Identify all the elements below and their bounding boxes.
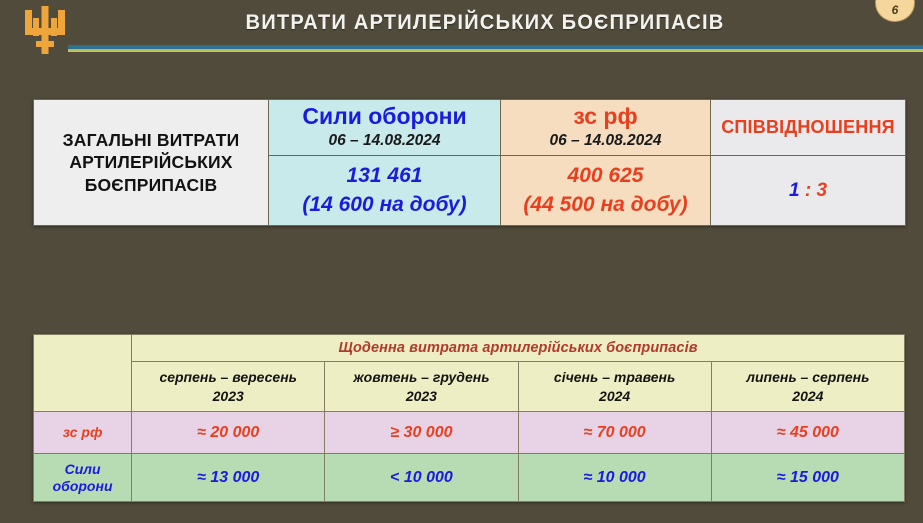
- summary-header-ratio: СПІВВІДНОШЕННЯ: [711, 100, 906, 156]
- summary-value-rus-perday: (44 500 на добу): [501, 191, 710, 219]
- daily-cell-ukr-4: ≈ 15 000: [711, 454, 904, 502]
- summary-value-ukr: 131 461 (14 600 на добу): [269, 156, 501, 226]
- daily-value-rus-1: ≈ 20 000: [197, 424, 259, 441]
- daily-table-corner: [34, 335, 132, 412]
- daily-period-header-4: липень – серпень 2024: [711, 362, 904, 412]
- daily-cell-ukr-3: ≈ 10 000: [518, 454, 711, 502]
- daily-row-label-rus: зс рф: [34, 412, 132, 454]
- daily-cell-ukr-2: < 10 000: [325, 454, 518, 502]
- ratio-right-value: 3: [816, 180, 827, 201]
- summary-value-rus-total: 400 625: [501, 162, 710, 190]
- daily-period-header-2: жовтень – грудень 2023: [325, 362, 518, 412]
- summary-value-ratio: 1 : 3: [711, 156, 906, 226]
- daily-cell-rus-2: ≥ 30 000: [325, 412, 518, 454]
- slide-number-badge: 6: [875, 0, 915, 22]
- summary-header-rus-title: зс рф: [501, 104, 710, 129]
- daily-period-year-3: 2024: [519, 387, 711, 406]
- ukrainian-trident-icon: [22, 4, 68, 56]
- daily-value-ukr-4: ≈ 15 000: [777, 469, 839, 486]
- page-title: ВИТРАТИ АРТИЛЕРІЙСЬКИХ БОЄПРИПАСІВ: [135, 11, 836, 35]
- daily-period-range-1: серпень – вересень: [132, 368, 324, 387]
- table-row: Щоденна витрата артилерійських боєприпас…: [34, 335, 905, 362]
- daily-value-rus-4: ≈ 45 000: [777, 424, 839, 441]
- daily-cell-rus-1: ≈ 20 000: [132, 412, 325, 454]
- summary-header-ukr-dates: 06 – 14.08.2024: [269, 131, 500, 151]
- daily-row-label-ukr-line1: Сили: [34, 461, 131, 478]
- daily-period-range-3: січень – травень: [519, 368, 711, 387]
- ratio-left-value: 1: [789, 180, 800, 201]
- daily-period-range-2: жовтень – грудень: [325, 368, 517, 387]
- summary-header-ukr: Сили оборони 06 – 14.08.2024: [269, 100, 501, 156]
- daily-period-year-2: 2023: [325, 387, 517, 406]
- summary-row-label: ЗАГАЛЬНІ ВИТРАТИ АРТИЛЕРІЙСЬКИХ БОЄПРИПА…: [34, 100, 269, 226]
- daily-period-year-4: 2024: [712, 387, 904, 406]
- summary-value-ukr-perday: (14 600 на добу): [269, 191, 500, 219]
- table-row: зс рф ≈ 20 000 ≥ 30 000 ≈ 70 000 ≈ 45 00…: [34, 412, 905, 454]
- daily-value-rus-3: ≈ 70 000: [584, 424, 646, 441]
- daily-period-header-1: серпень – вересень 2023: [132, 362, 325, 412]
- summary-value-rus: 400 625 (44 500 на добу): [501, 156, 711, 226]
- ratio-separator: :: [800, 180, 817, 201]
- summary-header-rus-dates: 06 – 14.08.2024: [501, 131, 710, 151]
- daily-value-ukr-2: < 10 000: [390, 469, 453, 486]
- daily-period-range-4: липень – серпень: [712, 368, 904, 387]
- table-row: ЗАГАЛЬНІ ВИТРАТИ АРТИЛЕРІЙСЬКИХ БОЄПРИПА…: [34, 100, 906, 156]
- daily-period-header-3: січень – травень 2024: [518, 362, 711, 412]
- daily-row-label-ukr-line2: оборони: [34, 478, 131, 495]
- summary-header-ratio-title: СПІВВІДНОШЕННЯ: [711, 117, 905, 138]
- daily-table-banner: Щоденна витрата артилерійських боєприпас…: [132, 335, 905, 362]
- flag-accent-rule: [68, 45, 923, 52]
- daily-period-year-1: 2023: [132, 387, 324, 406]
- summary-header-rus: зс рф 06 – 14.08.2024: [501, 100, 711, 156]
- daily-row-label-ukr: Сили оборони: [34, 454, 132, 502]
- daily-consumption-table: Щоденна витрата артилерійських боєприпас…: [33, 334, 905, 502]
- daily-row-label-rus-text: зс рф: [34, 424, 131, 441]
- daily-value-ukr-1: ≈ 13 000: [197, 469, 259, 486]
- daily-cell-rus-3: ≈ 70 000: [518, 412, 711, 454]
- daily-value-ukr-3: ≈ 10 000: [584, 469, 646, 486]
- slide-header: ВИТРАТИ АРТИЛЕРІЙСЬКИХ БОЄПРИПАСІВ 6: [0, 0, 923, 56]
- table-row: Сили оборони ≈ 13 000 < 10 000 ≈ 10 000 …: [34, 454, 905, 502]
- daily-value-rus-2: ≥ 30 000: [390, 424, 452, 441]
- summary-table: ЗАГАЛЬНІ ВИТРАТИ АРТИЛЕРІЙСЬКИХ БОЄПРИПА…: [33, 99, 906, 226]
- table-row: серпень – вересень 2023 жовтень – груден…: [34, 362, 905, 412]
- daily-cell-rus-4: ≈ 45 000: [711, 412, 904, 454]
- daily-cell-ukr-1: ≈ 13 000: [132, 454, 325, 502]
- summary-header-ukr-title: Сили оборони: [269, 104, 500, 129]
- summary-value-ukr-total: 131 461: [269, 162, 500, 190]
